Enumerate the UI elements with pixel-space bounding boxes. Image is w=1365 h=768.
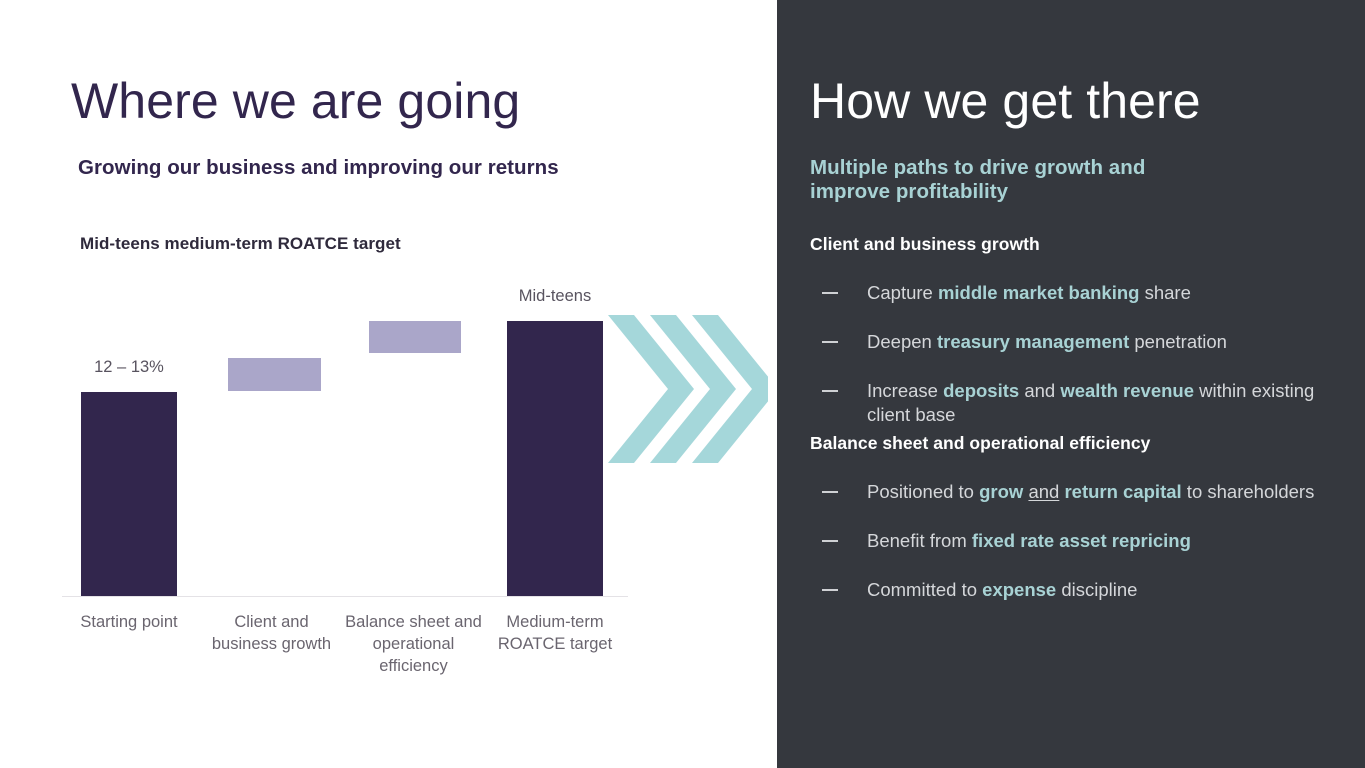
bullet-dash-icon bbox=[822, 540, 838, 542]
right-subtitle: Multiple paths to drive growth and impro… bbox=[810, 156, 1230, 203]
bullet-dash-icon bbox=[822, 292, 838, 294]
chart-bar-value-label: 12 – 13% bbox=[69, 358, 189, 377]
chart-bar bbox=[507, 321, 603, 596]
bullet-text: Deepen treasury management penetration bbox=[867, 330, 1327, 354]
bullet-text: Positioned to grow and return capital to… bbox=[867, 480, 1327, 504]
chart-bar bbox=[369, 321, 461, 353]
bullet-dash-icon bbox=[822, 390, 838, 392]
bullet-dash-icon bbox=[822, 341, 838, 343]
bullet-item: Increase deposits and wealth revenue wit… bbox=[822, 379, 1327, 428]
chart-category-label: Medium-term ROATCE target bbox=[484, 612, 626, 656]
left-panel: Where we are going Growing our business … bbox=[0, 0, 777, 768]
chevron-arrows-icon bbox=[608, 315, 768, 472]
chart-category-label: Starting point bbox=[69, 612, 189, 634]
chart-bar-value-label: Mid-teens bbox=[495, 287, 615, 306]
bullet-item: Capture middle market banking share bbox=[822, 281, 1327, 305]
chart-bar bbox=[81, 392, 177, 596]
bullet-text: Benefit from fixed rate asset repricing bbox=[867, 529, 1327, 553]
group-heading: Balance sheet and operational efficiency bbox=[810, 433, 1150, 454]
bullet-text: Increase deposits and wealth revenue wit… bbox=[867, 379, 1327, 428]
waterfall-chart: 12 – 13%Mid-teens Starting pointClient a… bbox=[0, 0, 777, 768]
bullet-item: Positioned to grow and return capital to… bbox=[822, 480, 1327, 504]
page-title-right: How we get there bbox=[810, 74, 1201, 129]
right-panel: How we get there Multiple paths to drive… bbox=[777, 0, 1365, 768]
chart-axis-line bbox=[62, 596, 628, 597]
bullet-item: Deepen treasury management penetration bbox=[822, 330, 1327, 354]
bullet-item: Committed to expense discipline bbox=[822, 578, 1327, 602]
group-heading: Client and business growth bbox=[810, 234, 1040, 255]
bullet-text: Capture middle market banking share bbox=[867, 281, 1327, 305]
bullet-item: Benefit from fixed rate asset repricing bbox=[822, 529, 1327, 553]
chart-bar bbox=[228, 358, 321, 391]
bullet-dash-icon bbox=[822, 589, 838, 591]
slide: Where we are going Growing our business … bbox=[0, 0, 1365, 768]
chart-category-label: Client and business growth bbox=[200, 612, 343, 656]
bullet-text: Committed to expense discipline bbox=[867, 578, 1327, 602]
bullet-dash-icon bbox=[822, 491, 838, 493]
chart-category-label: Balance sheet and operational efficiency bbox=[342, 612, 485, 677]
